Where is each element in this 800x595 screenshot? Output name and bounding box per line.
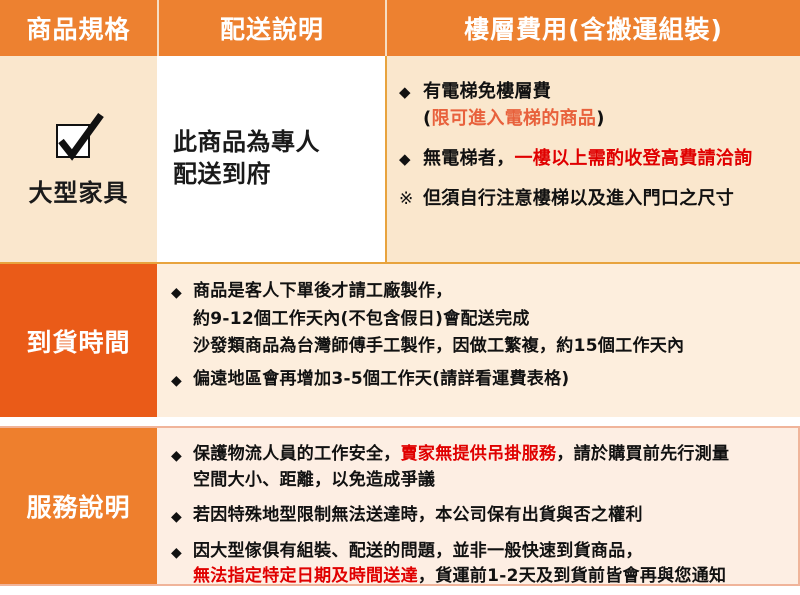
bullet-marker-diamond: ◆ [399, 145, 423, 171]
list-item: ◆ 偏遠地區會再增加3-5個工作天(請詳看運費表格) [171, 366, 790, 394]
text-run: ( [423, 108, 432, 129]
service-item-3-text: 因大型傢俱有組裝、配送的問題，並非一般快速到貨商品， 無法指定特定日期及時間送達… [193, 539, 726, 590]
checked-box-icon [51, 111, 107, 165]
section-product-spec: 大型家具 此商品為專人 配送到府 ◆ 有電梯免樓層費 (限可進入電梯的商品) ◆… [0, 56, 800, 264]
text-run-highlight: 一樓以上需酌收登高費請洽詢 [515, 148, 753, 169]
bullet-marker-diamond: ◆ [171, 442, 193, 468]
text-run: 無電梯者， [423, 148, 515, 169]
header-cell-delivery-note: 配送說明 [157, 0, 385, 56]
cell-arrival-time-label: 到貨時間 [0, 264, 157, 417]
text-run: ) [596, 108, 605, 129]
cell-delivery-note: 此商品為專人 配送到府 [157, 56, 385, 262]
shipping-info-table: 商品規格 配送說明 樓層費用(含搬運組裝) 大型家具 此商品為專人 配送到府 ◆ [0, 0, 800, 595]
delivery-note-line-1: 此商品為專人 [173, 127, 320, 159]
text-run: 因大型傢俱有組裝、配送的問題，並非一般快速到貨商品， [193, 541, 643, 561]
list-item: ◆ 無電梯者，一樓以上需酌收登高費請洽詢 [399, 145, 792, 172]
text-run-highlight: 無法指定特定日期及時間送達 [193, 566, 418, 586]
cell-service-note-label: 服務說明 [0, 428, 157, 584]
text-run-highlight: 賣家無提供吊掛服務 [401, 444, 557, 464]
arrival-item-1-text: 商品是客人下單後才請工廠製作， 約9-12個工作天內(不包含假日)會配送完成 沙… [193, 278, 684, 361]
text-run: ，貨運前1-2天及到貨前皆會再與您通知 [418, 566, 726, 586]
list-item: ◆ 保護物流人員的工作安全，賣家無提供吊掛服務，請於購買前先行測量 空間大小、距… [171, 442, 790, 493]
arrival-item-2-text: 偏遠地區會再增加3-5個工作天(請詳看運費表格) [193, 366, 569, 394]
text-run: 但須自行注意樓梯以及進入門口之尺寸 [423, 188, 734, 209]
text-line: 偏遠地區會再增加3-5個工作天(請詳看運費表格) [193, 366, 569, 394]
header-cell-product-spec: 商品規格 [0, 0, 157, 56]
delivery-note-line-2: 配送到府 [173, 159, 320, 191]
text-line: 沙發類商品為台灣師傅手工製作，因做工繁複，約15個工作天內 [193, 333, 684, 361]
bullet-marker-asterisk: ※ [399, 185, 423, 212]
service-note-label: 服務說明 [26, 488, 130, 524]
header-cell-floor-fee: 樓層費用(含搬運組裝) [385, 0, 800, 56]
text-run-highlight: 限可進入電梯的商品 [432, 108, 597, 129]
text-run: 空間大小、距離，以免造成爭議 [193, 470, 435, 490]
text-line: 商品是客人下單後才請工廠製作， [193, 278, 684, 306]
section-service-note: 服務說明 ◆ 保護物流人員的工作安全，賣家無提供吊掛服務，請於購買前先行測量 空… [0, 426, 800, 586]
list-item: ◆ 商品是客人下單後才請工廠製作， 約9-12個工作天內(不包含假日)會配送完成… [171, 278, 790, 361]
service-item-1-text: 保護物流人員的工作安全，賣家無提供吊掛服務，請於購買前先行測量 空間大小、距離，… [193, 442, 729, 493]
bullet-marker-diamond: ◆ [171, 503, 193, 529]
delivery-note-text: 此商品為專人 配送到府 [173, 127, 320, 190]
list-item: ◆ 有電梯免樓層費 (限可進入電梯的商品) [399, 78, 792, 132]
header-label-floor-fee: 樓層費用(含搬運組裝) [464, 10, 723, 46]
list-item: ◆ 若因特殊地型限制無法送達時，本公司保有出貨與否之權利 [171, 503, 790, 529]
product-spec-label: 大型家具 [29, 173, 129, 208]
arrival-time-label: 到貨時間 [26, 323, 130, 359]
floor-fee-item-3-text: 但須自行注意樓梯以及進入門口之尺寸 [423, 185, 734, 212]
header-label-delivery-note: 配送說明 [220, 10, 324, 46]
text-run: 有電梯免樓層費 [423, 81, 551, 102]
section-arrival-time: 到貨時間 ◆ 商品是客人下單後才請工廠製作， 約9-12個工作天內(不包含假日)… [0, 264, 800, 417]
header-label-product-spec: 商品規格 [26, 10, 130, 46]
bullet-marker-diamond: ◆ [399, 78, 423, 104]
cell-floor-fee: ◆ 有電梯免樓層費 (限可進入電梯的商品) ◆ 無電梯者，一樓以上需酌收登高費請… [385, 56, 800, 262]
floor-fee-item-2-text: 無電梯者，一樓以上需酌收登高費請洽詢 [423, 145, 752, 172]
bullet-marker-diamond: ◆ [171, 366, 193, 393]
list-item: ◆ 因大型傢俱有組裝、配送的問題，並非一般快速到貨商品， 無法指定特定日期及時間… [171, 539, 790, 590]
text-run: ，請於購買前先行測量 [556, 444, 729, 464]
floor-fee-item-1-text: 有電梯免樓層費 (限可進入電梯的商品) [423, 78, 605, 132]
text-line: 約9-12個工作天內(不包含假日)會配送完成 [193, 306, 684, 334]
cell-arrival-time-content: ◆ 商品是客人下單後才請工廠製作， 約9-12個工作天內(不包含假日)會配送完成… [157, 264, 800, 417]
text-run: 保護物流人員的工作安全， [193, 444, 401, 464]
service-item-2-text: 若因特殊地型限制無法送達時，本公司保有出貨與否之權利 [193, 503, 643, 529]
bullet-marker-diamond: ◆ [171, 539, 193, 565]
bullet-marker-diamond: ◆ [171, 278, 193, 305]
list-item: ※ 但須自行注意樓梯以及進入門口之尺寸 [399, 185, 792, 212]
table-header-row: 商品規格 配送說明 樓層費用(含搬運組裝) [0, 0, 800, 56]
section-divider-gap [0, 417, 800, 426]
cell-product-spec: 大型家具 [0, 56, 157, 262]
cell-service-note-content: ◆ 保護物流人員的工作安全，賣家無提供吊掛服務，請於購買前先行測量 空間大小、距… [157, 428, 798, 584]
text-run: 若因特殊地型限制無法送達時，本公司保有出貨與否之權利 [193, 505, 643, 525]
